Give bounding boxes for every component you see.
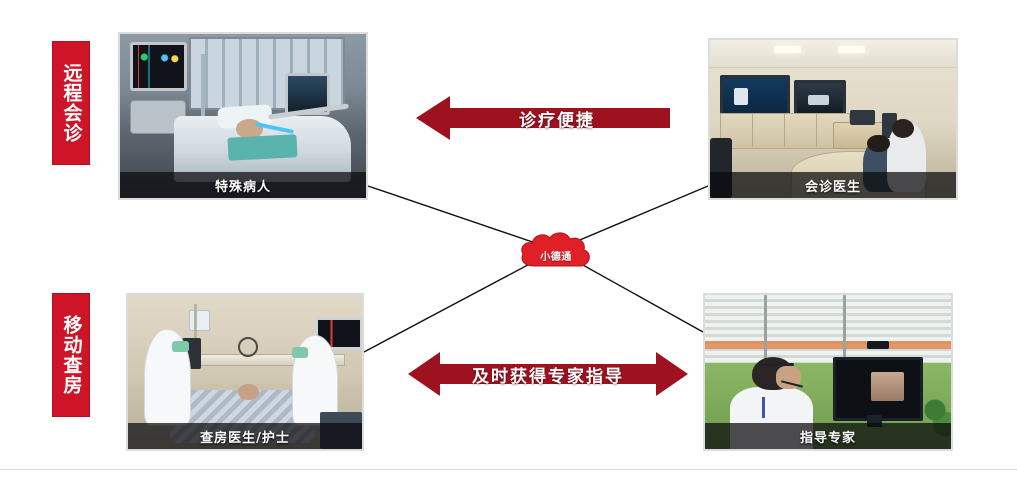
window-mullion-1 xyxy=(764,295,767,363)
ward-patient-head xyxy=(238,384,259,399)
wall-display-secondary xyxy=(794,80,847,116)
arrow-banner-expert-guidance: 及时获得专家指导 xyxy=(408,350,688,398)
conference-ceiling xyxy=(710,40,956,68)
side-label-remote-consultation: 远程会诊 xyxy=(52,41,90,165)
cabinet-seam-3 xyxy=(816,113,817,148)
cloud-label: 小德通 xyxy=(540,248,572,263)
cabinet-seam-1 xyxy=(752,113,753,148)
ceiling-light-left xyxy=(774,46,801,52)
office-window-blinds xyxy=(705,295,951,363)
window-mullion-2 xyxy=(843,295,846,363)
window-exterior-band xyxy=(705,341,951,349)
ppe-mask-right xyxy=(292,347,308,358)
wall-display-main xyxy=(720,75,790,117)
arrow-label-diagnosis-convenience: 诊疗便捷 xyxy=(519,106,595,131)
ppe-mask-left xyxy=(172,341,188,352)
arrow-label-expert-guidance: 及时获得专家指导 xyxy=(472,362,624,387)
side-label-remote-text: 远程会诊 xyxy=(59,63,84,143)
expert-monitor xyxy=(833,357,923,422)
photo-panel-ward-round-staff: 查房医生/护士 xyxy=(126,293,364,451)
photo-caption-ward-round-staff: 查房医生/护士 xyxy=(128,423,362,449)
photo-caption-consulting-doctor: 会诊医生 xyxy=(710,172,956,198)
ward-iv-bag xyxy=(189,310,210,330)
bottom-divider xyxy=(0,469,1017,470)
photo-caption-special-patient: 特殊病人 xyxy=(120,172,366,198)
headset-band xyxy=(759,363,793,366)
attendee-head-left xyxy=(867,135,889,152)
expert-lanyard xyxy=(762,397,765,419)
network-cloud: 小德通 xyxy=(516,228,596,272)
photo-caption-guiding-expert: 指导专家 xyxy=(705,423,951,449)
photo-panel-special-patient: 特殊病人 xyxy=(118,32,368,200)
attendee-head-right xyxy=(892,119,914,138)
ceiling-light-right xyxy=(838,46,865,52)
desk-monitor xyxy=(850,110,875,126)
photo-panel-guiding-expert: 指导专家 xyxy=(703,293,953,451)
cabinet-seam-2 xyxy=(784,113,785,148)
icu-vital-monitor xyxy=(130,42,188,91)
arrow-banner-diagnosis-convenience: 诊疗便捷 xyxy=(416,94,670,142)
icu-surgical-drape xyxy=(228,134,298,161)
photo-panel-consulting-doctor: 会诊医生 xyxy=(708,38,958,200)
side-label-mobile-text: 移动查房 xyxy=(59,315,84,395)
ward-wall-clock xyxy=(238,337,258,357)
diagram-canvas: 远程会诊 移动查房 特殊病人 xyxy=(0,0,1017,477)
side-label-mobile-ward-round: 移动查房 xyxy=(52,293,90,417)
webcam xyxy=(867,341,889,349)
icu-iv-pole xyxy=(201,54,205,126)
